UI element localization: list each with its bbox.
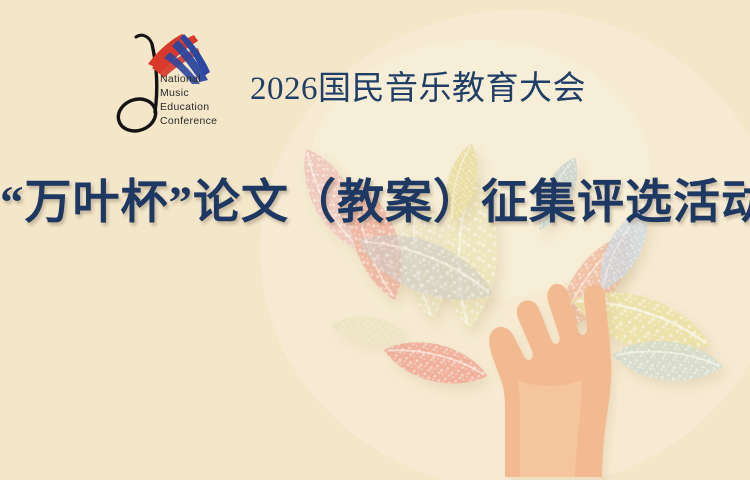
logo-text-line-2: Music [160,87,189,99]
conference-banner: National Music Education Conference 2026… [0,0,750,480]
event-headline: “万叶杯”论文（教案）征集评选活动 [0,176,750,230]
logo-text-line-1: National [160,73,201,85]
headline-container: “万叶杯”论文（教案）征集评选活动 [0,176,750,230]
conference-title: 2026国民音乐教育大会 [250,61,586,109]
conference-logo: National Music Education Conference [112,26,224,138]
logo-text-line-3: Education [160,101,209,113]
music-note-icon [114,35,160,136]
banner-header: National Music Education Conference 2026… [0,22,750,142]
logo-text-line-4: Conference [160,115,217,127]
